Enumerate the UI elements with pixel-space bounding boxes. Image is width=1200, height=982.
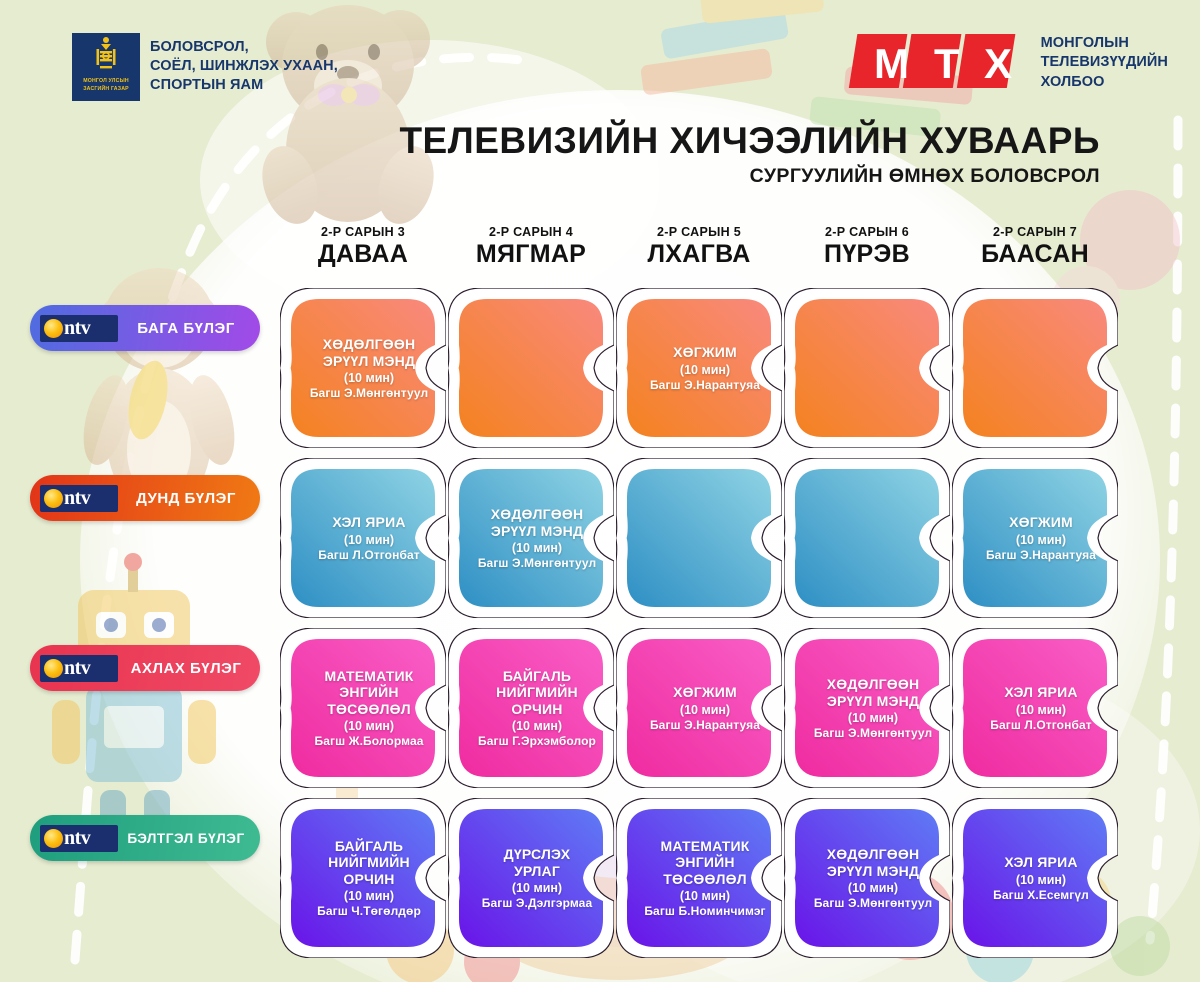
ntv-wordmark: ntv [64, 828, 90, 848]
lesson-teacher: Багш Э.Мөнгөнтуул [310, 386, 428, 400]
svg-text:Т: Т [934, 40, 960, 87]
schedule-rows: ntvБАГА БҮЛЭГХӨДӨЛГӨӨНЭРҮҮЛ МЭНД(10 мин)… [0, 283, 1200, 963]
government-branding: МОНГОЛ УЛСЫН ЗАСГИЙН ГАЗАР БОЛОВСРОЛ, СО… [72, 33, 338, 101]
lesson-subject: БАЙГАЛЬНИЙГМИЙНОРЧИН [496, 668, 578, 718]
lesson-teacher: Багш Э.Мөнгөнтуул [814, 896, 932, 910]
column-day: ПҮРЭВ [784, 240, 950, 269]
ntv-sun-icon [44, 829, 63, 848]
group-label-3[interactable]: ntvАХЛАХ БҮЛЭГ [30, 645, 260, 691]
lesson-subject: ХӨГЖИМ [673, 684, 737, 701]
lesson-duration: (10 мин) [848, 711, 898, 725]
mtx-logo: М Т Х [844, 30, 1029, 92]
lesson-card-text: ХӨДӨЛГӨӨНЭРҮҮЛ МЭНД(10 мин)Багш Э.Мөнгөн… [804, 628, 942, 788]
lesson-card-text: ХӨДӨЛГӨӨНЭРҮҮЛ МЭНД(10 мин)Багш Э.Мөнгөн… [300, 288, 438, 448]
lesson-card-r3-c5[interactable]: ХЭЛ ЯРИА(10 мин)Багш Л.Отгонбат [952, 628, 1118, 788]
lesson-subject: ХӨГЖИМ [673, 344, 737, 361]
ministry-line-2: СОЁЛ, ШИНЖЛЭХ УХААН, [150, 57, 338, 76]
schedule-row-4: ntvБЭЛТГЭЛ БҮЛЭГБАЙГАЛЬНИЙГМИЙНОРЧИН(10 … [0, 793, 1200, 963]
lesson-card-r2-c5[interactable]: ХӨГЖИМ(10 мин)Багш Э.Нарантуяа [952, 458, 1118, 618]
lesson-card-r1-c5[interactable] [952, 288, 1118, 448]
lesson-duration: (10 мин) [1016, 873, 1066, 887]
group-name: ДУНД БҮЛЭГ [118, 490, 260, 507]
lesson-card-r1-c1[interactable]: ХӨДӨЛГӨӨНЭРҮҮЛ МЭНД(10 мин)Багш Э.Мөнгөн… [280, 288, 446, 448]
lesson-card-r3-c2[interactable]: БАЙГАЛЬНИЙГМИЙНОРЧИН(10 мин)Багш Г.Эрхэм… [448, 628, 614, 788]
lesson-card-r1-c4[interactable] [784, 288, 950, 448]
lesson-duration: (10 мин) [512, 541, 562, 555]
lesson-card-text: БАЙГАЛЬНИЙГМИЙНОРЧИН(10 мин)Багш Ч.Төгөл… [300, 798, 438, 958]
lesson-card-r4-c5[interactable]: ХЭЛ ЯРИА(10 мин)Багш Х.Есемгүл [952, 798, 1118, 958]
lesson-card-text: ХӨДӨЛГӨӨНЭРҮҮЛ МЭНД(10 мин)Багш Э.Мөнгөн… [804, 798, 942, 958]
lesson-card-text: БАЙГАЛЬНИЙГМИЙНОРЧИН(10 мин)Багш Г.Эрхэм… [468, 628, 606, 788]
group-name: БАГА БҮЛЭГ [118, 320, 260, 337]
schedule-row-2: ntvДУНД БҮЛЭГХЭЛ ЯРИА(10 мин)Багш Л.Отго… [0, 453, 1200, 623]
lesson-card-text: ХЭЛ ЯРИА(10 мин)Багш Л.Отгонбат [972, 628, 1110, 788]
schedule-row-3: ntvАХЛАХ БҮЛЭГМАТЕМАТИКЭНГИЙНТӨСӨӨЛӨЛ(10… [0, 623, 1200, 793]
page-header: МОНГОЛ УЛСЫН ЗАСГИЙН ГАЗАР БОЛОВСРОЛ, СО… [0, 0, 1200, 210]
lesson-card-shape [784, 458, 950, 618]
column-day: ЛХАГВА [616, 240, 782, 269]
lesson-subject: ХӨГЖИМ [1009, 514, 1073, 531]
lesson-card-shape [784, 288, 950, 448]
lesson-card-r4-c3[interactable]: МАТЕМАТИКЭНГИЙНТӨСӨӨЛӨЛ(10 мин)Багш Б.Но… [616, 798, 782, 958]
lesson-duration: (10 мин) [512, 881, 562, 895]
column-date: 2-Р САРЫН 3 [280, 225, 446, 239]
lesson-card-r2-c1[interactable]: ХЭЛ ЯРИА(10 мин)Багш Л.Отгонбат [280, 458, 446, 618]
lesson-subject: ХЭЛ ЯРИА [1004, 684, 1077, 701]
lesson-card-shape [616, 458, 782, 618]
column-date: 2-Р САРЫН 5 [616, 225, 782, 239]
lesson-card-text: ХӨГЖИМ(10 мин)Багш Э.Нарантуяа [972, 458, 1110, 618]
lesson-card-text: ДҮРСЛЭХУРЛАГ(10 мин)Багш Э.Дэлгэрмаа [468, 798, 606, 958]
lesson-duration: (10 мин) [344, 371, 394, 385]
ntv-sun-icon [44, 659, 63, 678]
ministry-name: БОЛОВСРОЛ, СОЁЛ, ШИНЖЛЭХ УХААН, СПОРТЫН … [150, 33, 338, 95]
lesson-duration: (10 мин) [344, 533, 394, 547]
ntv-sun-icon [44, 489, 63, 508]
column-day: БААСАН [952, 240, 1118, 269]
lesson-duration: (10 мин) [1016, 533, 1066, 547]
ntv-wordmark: ntv [64, 488, 90, 508]
column-header-2: 2-Р САРЫН 4МЯГМАР [448, 225, 614, 269]
lesson-card-text: ХЭЛ ЯРИА(10 мин)Багш Л.Отгонбат [300, 458, 438, 618]
schedule-grid: 2-Р САРЫН 3ДАВАА2-Р САРЫН 4МЯГМАР2-Р САР… [0, 225, 1200, 963]
lesson-teacher: Багш Э.Нарантуяа [650, 718, 760, 732]
page-subtitle: СУРГУУЛИЙН ӨМНӨХ БОЛОВСРОЛ [399, 165, 1100, 188]
lesson-card-r4-c2[interactable]: ДҮРСЛЭХУРЛАГ(10 мин)Багш Э.Дэлгэрмаа [448, 798, 614, 958]
lesson-subject: ХӨДӨЛГӨӨНЭРҮҮЛ МЭНД [491, 506, 584, 539]
group-label-1[interactable]: ntvБАГА БҮЛЭГ [30, 305, 260, 351]
ntv-channel-logo: ntv [40, 655, 118, 682]
group-name: АХЛАХ БҮЛЭГ [118, 660, 260, 677]
ministry-line-3: СПОРТЫН ЯАМ [150, 76, 338, 95]
group-label-2[interactable]: ntvДУНД БҮЛЭГ [30, 475, 260, 521]
lesson-duration: (10 мин) [344, 719, 394, 733]
lesson-card-text: ХӨГЖИМ(10 мин)Багш Э.Нарантуяа [636, 628, 774, 788]
lesson-card-r1-c2[interactable] [448, 288, 614, 448]
mtx-line-1: МОНГОЛЫН [1041, 34, 1168, 53]
lesson-subject: ХӨДӨЛГӨӨНЭРҮҮЛ МЭНД [323, 336, 416, 369]
lesson-card-r3-c4[interactable]: ХӨДӨЛГӨӨНЭРҮҮЛ МЭНД(10 мин)Багш Э.Мөнгөн… [784, 628, 950, 788]
lesson-card-text: ХӨДӨЛГӨӨНЭРҮҮЛ МЭНД(10 мин)Багш Э.Мөнгөн… [468, 458, 606, 618]
column-header-5: 2-Р САРЫН 7БААСАН [952, 225, 1118, 269]
title-block: ТЕЛЕВИЗИЙН ХИЧЭЭЛИЙН ХУВААРЬ СУРГУУЛИЙН … [399, 122, 1100, 188]
ministry-line-1: БОЛОВСРОЛ, [150, 38, 338, 57]
lesson-duration: (10 мин) [848, 881, 898, 895]
lesson-card-r3-c3[interactable]: ХӨГЖИМ(10 мин)Багш Э.Нарантуяа [616, 628, 782, 788]
lesson-card-text: ХӨГЖИМ(10 мин)Багш Э.Нарантуяа [636, 288, 774, 448]
lesson-teacher: Багш Ч.Төгөлдөр [317, 904, 421, 918]
lesson-teacher: Багш Х.Есемгүл [993, 888, 1089, 902]
emblem-caption-line1: МОНГОЛ УЛСЫН [83, 78, 129, 86]
lesson-subject: ХЭЛ ЯРИА [1004, 854, 1077, 871]
column-date: 2-Р САРЫН 4 [448, 225, 614, 239]
column-day: ДАВАА [280, 240, 446, 269]
emblem-caption-line2: ЗАСГИЙН ГАЗАР [83, 86, 129, 94]
column-headers: 2-Р САРЫН 3ДАВАА2-Р САРЫН 4МЯГМАР2-Р САР… [0, 225, 1200, 283]
ntv-wordmark: ntv [64, 318, 90, 338]
column-header-1: 2-Р САРЫН 3ДАВАА [280, 225, 446, 269]
lesson-teacher: Багш Г.Эрхэмболор [478, 734, 596, 748]
ntv-channel-logo: ntv [40, 485, 118, 512]
lesson-teacher: Багш Б.Номинчимэг [644, 904, 765, 918]
lesson-duration: (10 мин) [680, 363, 730, 377]
lesson-teacher: Багш Л.Отгонбат [990, 718, 1091, 732]
lesson-card-r2-c4[interactable] [784, 458, 950, 618]
schedule-row-1: ntvБАГА БҮЛЭГХӨДӨЛГӨӨНЭРҮҮЛ МЭНД(10 мин)… [0, 283, 1200, 453]
lesson-duration: (10 мин) [512, 719, 562, 733]
lesson-card-r4-c1[interactable]: БАЙГАЛЬНИЙГМИЙНОРЧИН(10 мин)Багш Ч.Төгөл… [280, 798, 446, 958]
column-header-4: 2-Р САРЫН 6ПҮРЭВ [784, 225, 950, 269]
lesson-duration: (10 мин) [344, 889, 394, 903]
lesson-card-r3-c1[interactable]: МАТЕМАТИКЭНГИЙНТӨСӨӨЛӨЛ(10 мин)Багш Ж.Бо… [280, 628, 446, 788]
lesson-duration: (10 мин) [680, 703, 730, 717]
lesson-teacher: Багш Л.Отгонбат [318, 548, 419, 562]
lesson-card-r4-c4[interactable]: ХӨДӨЛГӨӨНЭРҮҮЛ МЭНД(10 мин)Багш Э.Мөнгөн… [784, 798, 950, 958]
lesson-subject: ХӨДӨЛГӨӨНЭРҮҮЛ МЭНД [827, 846, 920, 879]
lesson-subject: МАТЕМАТИКЭНГИЙНТӨСӨӨЛӨЛ [325, 668, 414, 718]
mtx-line-3: ХОЛБОО [1041, 73, 1168, 92]
lesson-subject: БАЙГАЛЬНИЙГМИЙНОРЧИН [328, 838, 410, 888]
lesson-teacher: Багш Э.Мөнгөнтуул [814, 726, 932, 740]
column-header-3: 2-Р САРЫН 5ЛХАГВА [616, 225, 782, 269]
lesson-card-r1-c3[interactable]: ХӨГЖИМ(10 мин)Багш Э.Нарантуяа [616, 288, 782, 448]
column-date: 2-Р САРЫН 7 [952, 225, 1118, 239]
lesson-teacher: Багш Э.Нарантуяа [650, 378, 760, 392]
lesson-duration: (10 мин) [1016, 703, 1066, 717]
svg-text:Х: Х [984, 40, 1012, 87]
lesson-card-text: МАТЕМАТИКЭНГИЙНТӨСӨӨЛӨЛ(10 мин)Багш Ж.Бо… [300, 628, 438, 788]
lesson-subject: ХӨДӨЛГӨӨНЭРҮҮЛ МЭНД [827, 676, 920, 709]
column-date: 2-Р САРЫН 6 [784, 225, 950, 239]
page-title: ТЕЛЕВИЗИЙН ХИЧЭЭЛИЙН ХУВААРЬ [399, 122, 1100, 161]
lesson-card-r2-c3[interactable] [616, 458, 782, 618]
ntv-channel-logo: ntv [40, 825, 118, 852]
lesson-card-text: ХЭЛ ЯРИА(10 мин)Багш Х.Есемгүл [972, 798, 1110, 958]
lesson-subject: ХЭЛ ЯРИА [332, 514, 405, 531]
lesson-teacher: Багш Э.Дэлгэрмаа [482, 896, 592, 910]
ntv-channel-logo: ntv [40, 315, 118, 342]
soyombo-icon [95, 36, 117, 76]
lesson-card-r2-c2[interactable]: ХӨДӨЛГӨӨНЭРҮҮЛ МЭНД(10 мин)Багш Э.Мөнгөн… [448, 458, 614, 618]
svg-text:М: М [874, 40, 909, 87]
lesson-subject: МАТЕМАТИКЭНГИЙНТӨСӨӨЛӨЛ [661, 838, 750, 888]
lesson-card-text: МАТЕМАТИКЭНГИЙНТӨСӨӨЛӨЛ(10 мин)Багш Б.Но… [636, 798, 774, 958]
ntv-wordmark: ntv [64, 658, 90, 678]
column-day: МЯГМАР [448, 240, 614, 269]
group-label-4[interactable]: ntvБЭЛТГЭЛ БҮЛЭГ [30, 815, 260, 861]
lesson-duration: (10 мин) [680, 889, 730, 903]
lesson-card-shape [448, 288, 614, 448]
lesson-teacher: Багш Э.Мөнгөнтуул [478, 556, 596, 570]
mongolia-government-emblem: МОНГОЛ УЛСЫН ЗАСГИЙН ГАЗАР [72, 33, 140, 101]
lesson-subject: ДҮРСЛЭХУРЛАГ [504, 846, 571, 879]
lesson-teacher: Багш Ж.Болормаа [314, 734, 423, 748]
mtx-branding: М Т Х МОНГОЛЫН ТЕЛЕВИЗҮҮДИЙН ХОЛБОО [844, 30, 1168, 92]
ntv-sun-icon [44, 319, 63, 338]
mtx-association-name: МОНГОЛЫН ТЕЛЕВИЗҮҮДИЙН ХОЛБОО [1041, 30, 1168, 92]
group-name: БЭЛТГЭЛ БҮЛЭГ [118, 831, 260, 846]
lesson-card-shape [952, 288, 1118, 448]
lesson-teacher: Багш Э.Нарантуяа [986, 548, 1096, 562]
mtx-line-2: ТЕЛЕВИЗҮҮДИЙН [1041, 53, 1168, 72]
